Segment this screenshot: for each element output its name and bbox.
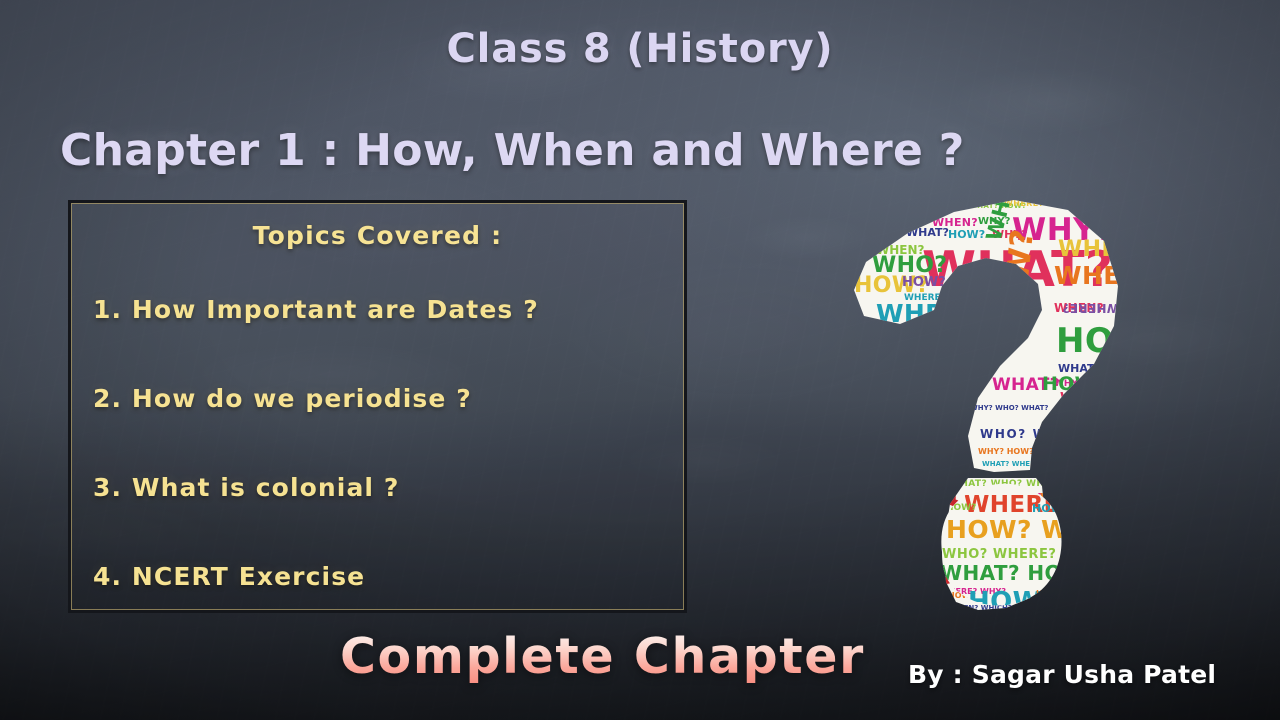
- list-item: 3. What is colonial ?: [93, 473, 672, 562]
- svg-text:HOW?: HOW?: [1036, 589, 1063, 598]
- svg-text:WHICH?: WHICH?: [889, 328, 977, 357]
- chapter-title: Chapter 1 : How, When and Where ?: [60, 125, 965, 176]
- svg-text:HOW?: HOW?: [1042, 373, 1107, 395]
- svg-text:HOW?: HOW?: [902, 275, 946, 290]
- svg-text:WHY?: WHY?: [1090, 373, 1153, 395]
- slide-canvas: Class 8 (History) Chapter 1 : How, When …: [0, 0, 1280, 720]
- svg-text:WHEN? WHICH? WHERE? WHO? WHY?: WHEN? WHICH? WHERE? WHO? WHY?: [950, 604, 1098, 612]
- svg-text:WHY? HOW?: WHY? HOW?: [1060, 391, 1151, 406]
- svg-text:HOW? WHO?: HOW? WHO?: [946, 515, 1127, 544]
- svg-text:WHERE?: WHERE?: [1062, 301, 1120, 315]
- svg-text:WHAT? WHO? WHERE? HOW?: WHAT? WHO? WHERE? HOW?: [950, 479, 1106, 489]
- list-item: 1. How Important are Dates ?: [93, 295, 672, 384]
- svg-text:WHEN? WHO? WHERE?: WHEN? WHO? WHERE?: [882, 360, 971, 368]
- question-mark-word-cloud-icon: WHY? WHAT? HOW? WHERE? WHEN? WHY? WHAT? …: [846, 186, 1146, 634]
- svg-text:WHERE?: WHERE?: [876, 299, 994, 328]
- svg-text:HOW?: HOW?: [1032, 502, 1069, 515]
- topics-covered-heading: Topics Covered :: [71, 221, 684, 250]
- complete-chapter-headline: Complete Chapter: [340, 628, 865, 685]
- svg-text:HOW?: HOW?: [968, 587, 1057, 617]
- svg-text:HOW?: HOW?: [948, 228, 985, 241]
- svg-text:WHAT? HOW? WHY?: WHAT? HOW? WHY?: [880, 330, 958, 338]
- svg-text:WHAT? WHEN? WHO?: WHAT? WHEN? WHO?: [982, 460, 1066, 468]
- svg-text:WHY? WHO? WHAT?: WHY? WHO? WHAT?: [970, 404, 1048, 412]
- svg-text:WHO? WHERE? WHAT? HOW?: WHO? WHERE? WHAT? HOW?: [942, 547, 1165, 562]
- svg-text:WHY? HOW? WHICH? WHERE?: WHY? HOW? WHICH? WHERE?: [978, 447, 1113, 456]
- svg-text:WHAT?: WHAT?: [950, 305, 985, 315]
- svg-text:WHEN?: WHEN?: [1054, 261, 1157, 290]
- svg-text:WHICH?: WHICH?: [950, 317, 986, 326]
- topics-list: 1. How Important are Dates ? 2. How do w…: [93, 295, 672, 651]
- list-item: 2. How do we periodise ?: [93, 384, 672, 473]
- topics-covered-box: Topics Covered : 1. How Important are Da…: [68, 200, 687, 613]
- byline: By : Sagar Usha Patel: [908, 660, 1216, 689]
- svg-text:WHAT?: WHAT?: [906, 226, 949, 239]
- class-title: Class 8 (History): [0, 26, 1280, 72]
- svg-text:WHAT? HOW? WHY?: WHAT? HOW? WHY?: [940, 561, 1170, 585]
- svg-text:HOW?: HOW?: [931, 511, 942, 542]
